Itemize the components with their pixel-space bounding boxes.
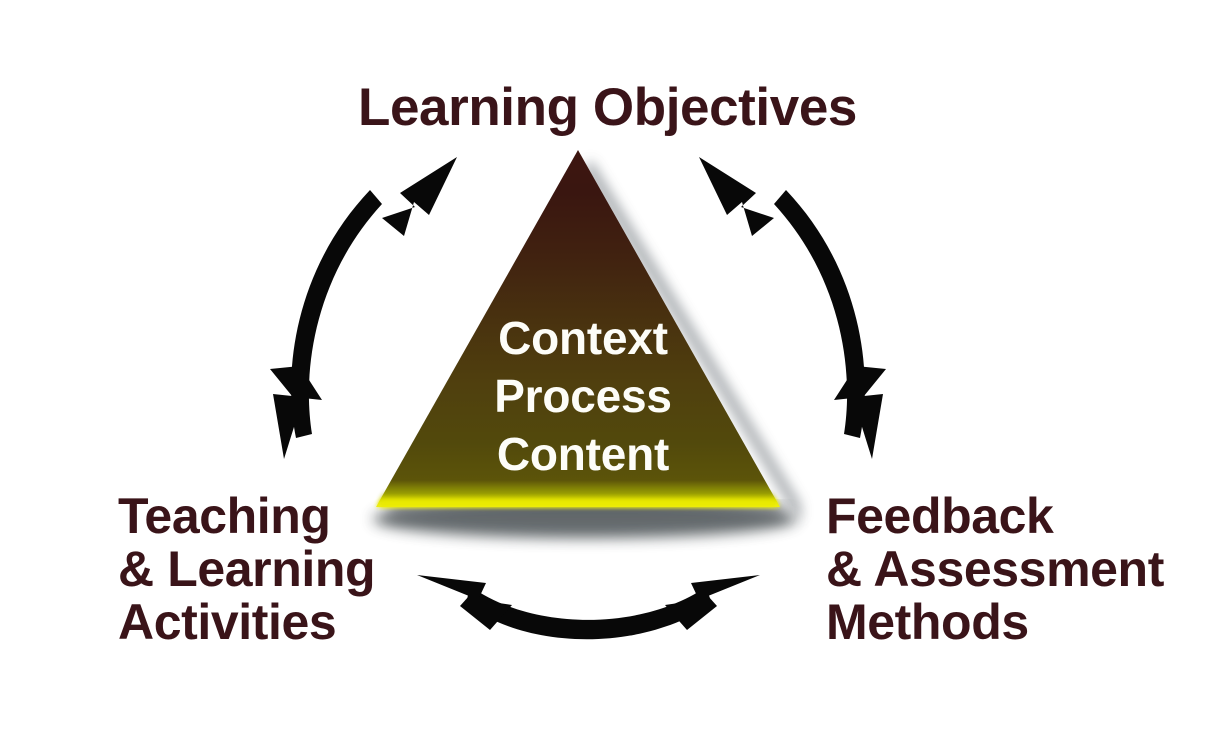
label-line: Feedback bbox=[826, 490, 1206, 543]
arrow-bottom[interactable] bbox=[417, 575, 760, 639]
node-label-learning-objectives: Learning Objectives bbox=[0, 80, 1215, 136]
diagram-canvas: Context Process Content bbox=[0, 0, 1215, 748]
label-line: Methods bbox=[826, 596, 1206, 649]
node-label-feedback-and-assessment-methods: Feedback & Assessment Methods bbox=[826, 490, 1206, 649]
triangle-line-content: Content bbox=[497, 428, 669, 480]
triangle-line-context: Context bbox=[498, 312, 668, 364]
triangle-line-process: Process bbox=[494, 370, 672, 422]
node-label-teaching-and-learning-activities: Teaching & Learning Activities bbox=[118, 490, 418, 649]
label-line: Learning Objectives bbox=[0, 80, 1215, 136]
label-line: Activities bbox=[118, 596, 418, 649]
label-line: Teaching bbox=[118, 490, 418, 543]
label-line: & Learning bbox=[118, 543, 418, 596]
label-line: & Assessment bbox=[826, 543, 1206, 596]
triangle-label-group: Context Process Content bbox=[494, 312, 672, 480]
